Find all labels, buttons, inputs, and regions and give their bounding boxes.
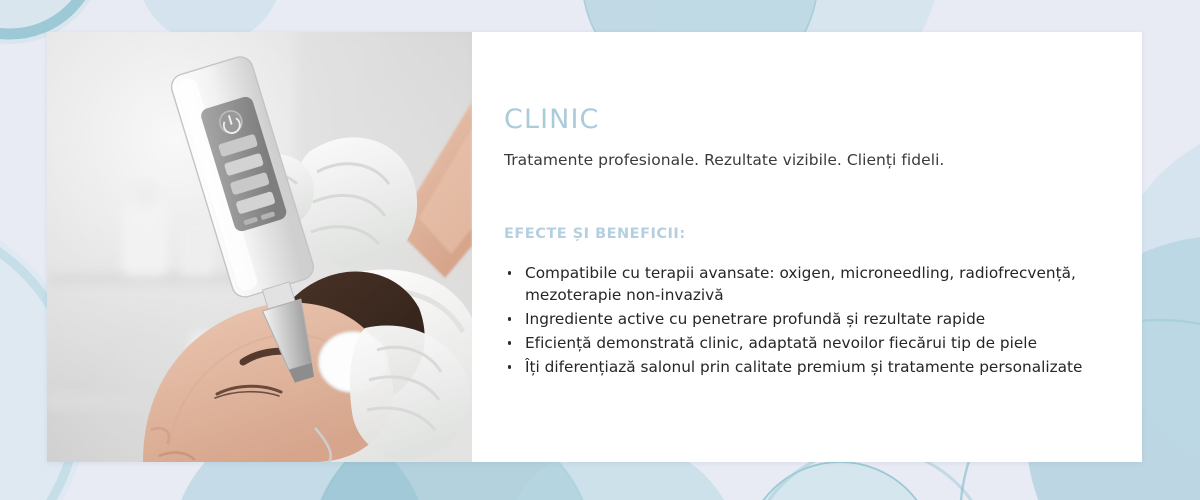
list-item: Compatibile cu terapii avansate: oxigen,…	[504, 262, 1096, 306]
page-title: CLINIC	[504, 106, 1096, 133]
card-content: CLINIC Tratamente profesionale. Rezultat…	[472, 32, 1142, 462]
benefits-label: EFECTE ȘI BENEFICII:	[504, 226, 1096, 242]
card-subtitle: Tratamente profesionale. Rezultate vizib…	[504, 150, 1096, 170]
list-item: Ingrediente active cu penetrare profundă…	[504, 308, 1096, 330]
promo-card: CLINIC Tratamente profesionale. Rezultat…	[47, 32, 1142, 462]
list-item: Eficiență demonstrată clinic, adaptată n…	[504, 332, 1096, 354]
benefits-list: Compatibile cu terapii avansate: oxigen,…	[504, 262, 1096, 378]
list-item: Îți diferențiază salonul prin calitate p…	[504, 356, 1096, 378]
treatment-photo	[47, 32, 472, 462]
